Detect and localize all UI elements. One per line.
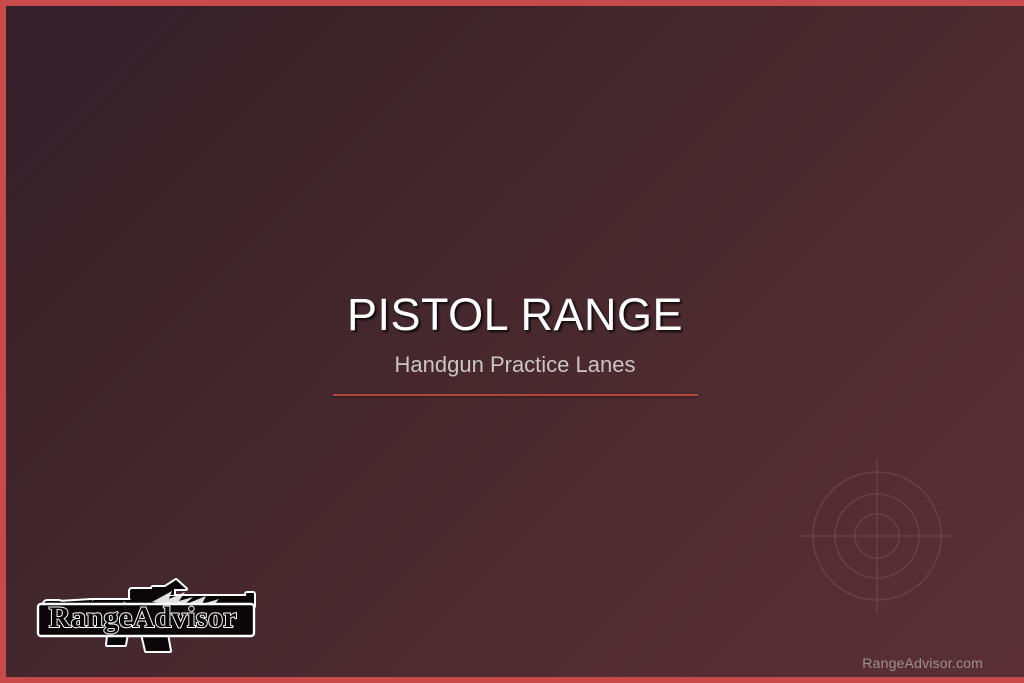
target-reticle-icon [799, 458, 955, 614]
slide-canvas: PISTOL RANGE Handgun Practice Lanes [6, 6, 1024, 677]
page-subtitle: Handgun Practice Lanes [6, 354, 1024, 376]
brand-logo: RangeAdvisor [28, 566, 273, 656]
footer-url: RangeAdvisor.com [862, 655, 983, 671]
page-title: PISTOL RANGE [6, 292, 1024, 337]
brand-wordmark: RangeAdvisor [49, 601, 237, 634]
slide-root: PISTOL RANGE Handgun Practice Lanes [0, 0, 1024, 683]
title-divider [333, 394, 698, 396]
title-block: PISTOL RANGE Handgun Practice Lanes [6, 292, 1024, 396]
